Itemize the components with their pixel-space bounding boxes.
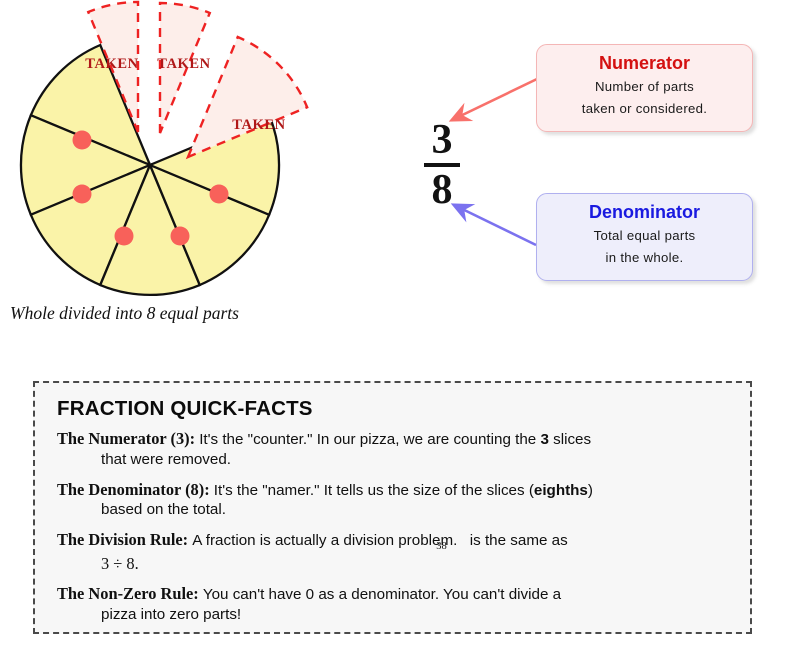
fact-item: The Division Rule: A fraction is actuall… — [57, 529, 728, 574]
fact-continuation: 3 ÷ 8. — [57, 553, 728, 574]
fact-continuation: based on the total. — [57, 500, 728, 520]
fraction-callout-area: 3 8 Numerator Number of parts taken or c… — [400, 0, 787, 345]
callout-numerator-line2: taken or considered. — [547, 98, 742, 121]
inline-fraction-denominator: 8 — [442, 541, 447, 552]
fact-text: A fraction is actually a division proble… — [192, 532, 461, 549]
callout-numerator-title: Numerator — [547, 52, 742, 76]
pepperoni-icon — [73, 131, 92, 150]
fact-continuation: that were removed. — [57, 450, 728, 470]
fact-text: It's the "namer." It tells us the size o… — [214, 482, 534, 499]
fact-item: The Non-Zero Rule: You can't have 0 as a… — [57, 583, 728, 625]
fact-item: The Numerator (3): It's the "counter." I… — [57, 428, 728, 470]
pizza-figure: TAKEN TAKEN TAKEN Whole divided into 8 e… — [0, 0, 400, 345]
pepperoni-icon — [73, 185, 92, 204]
fact-continuation: pizza into zero parts! — [57, 605, 728, 625]
callout-numerator-line1: Number of parts — [547, 76, 742, 99]
pepperoni-icon — [171, 227, 190, 246]
fact-term: The Numerator (3): — [57, 429, 195, 448]
fact-text-tail: is the same as — [466, 532, 568, 549]
fact-text-tail: ) — [588, 482, 593, 499]
callout-denominator-line2: in the whole. — [547, 247, 742, 270]
fact-term: The Non-Zero Rule: — [57, 584, 199, 603]
callout-denominator-title: Denominator — [547, 201, 742, 225]
quick-facts-panel: FRACTION QUICK-FACTS The Numerator (3): … — [33, 381, 752, 634]
pizza-diagram: TAKEN TAKEN TAKEN — [0, 0, 400, 300]
numerator-arrow — [452, 79, 537, 120]
pepperoni-icon — [210, 185, 229, 204]
taken-label-1: TAKEN — [85, 56, 139, 72]
fact-text: You can't have 0 as a denominator. You c… — [203, 586, 561, 603]
fact-item: The Denominator (8): It's the "namer." I… — [57, 479, 728, 521]
fact-text-tail: slices — [549, 431, 591, 448]
fact-term: The Division Rule: — [57, 530, 188, 549]
callout-numerator: Numerator Number of parts taken or consi… — [536, 44, 753, 132]
pizza-caption: Whole divided into 8 equal parts — [10, 303, 239, 324]
fact-highlight: 3 — [540, 431, 548, 448]
fact-highlight: eighths — [534, 482, 588, 499]
taken-label-2: TAKEN — [157, 56, 211, 72]
taken-label-3: TAKEN — [232, 117, 286, 133]
callout-denominator: Denominator Total equal parts in the who… — [536, 193, 753, 281]
quick-facts-title: FRACTION QUICK-FACTS — [57, 397, 728, 421]
fact-term: The Denominator (8): — [57, 480, 210, 499]
fact-text: It's the "counter." In our pizza, we are… — [199, 431, 540, 448]
denominator-arrow — [454, 205, 536, 245]
callout-denominator-line1: Total equal parts — [547, 225, 742, 248]
pepperoni-icon — [115, 227, 134, 246]
